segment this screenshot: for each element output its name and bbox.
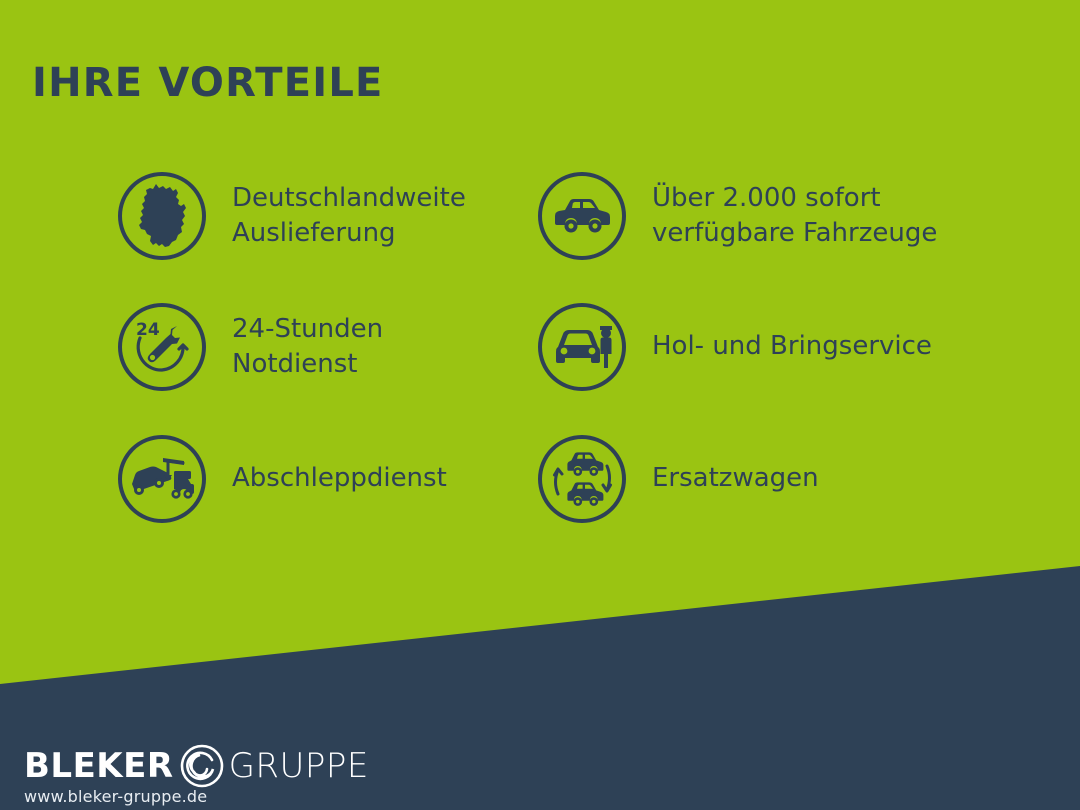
benefit-item-deutschlandweite-auslieferung[interactable]: Deutschlandweite Auslieferung xyxy=(118,172,466,260)
slide-canvas: IHRE VORTEILE Deutschlandweite Ausliefer… xyxy=(0,0,1080,810)
diagonal-footer-band xyxy=(0,0,1080,810)
benefit-label: Über 2.000 sofort verfügbare Fahrzeuge xyxy=(652,181,937,251)
benefit-item-sofort-verfuegbare-fahrzeuge[interactable]: Über 2.000 sofort verfügbare Fahrzeuge xyxy=(538,172,937,260)
logo-primary-text: BLEKER xyxy=(24,749,174,783)
benefit-label: Abschleppdienst xyxy=(232,461,447,496)
car-side-icon xyxy=(538,172,626,260)
germany-map-icon xyxy=(118,172,206,260)
car-driver-icon xyxy=(538,303,626,391)
benefit-label: Ersatzwagen xyxy=(652,461,819,496)
benefit-label: 24-Stunden Notdienst xyxy=(232,312,383,382)
spiral-circle-icon xyxy=(178,742,226,790)
benefit-item-ersatzwagen[interactable]: Ersatzwagen xyxy=(538,435,819,523)
benefit-item-24-stunden-notdienst[interactable]: 24 24-Stunden Notdienst xyxy=(118,303,383,391)
brand-logo[interactable]: BLEKER GRUPPE xyxy=(24,742,369,790)
tow-truck-icon xyxy=(118,435,206,523)
page-title: IHRE VORTEILE xyxy=(32,63,384,103)
benefit-item-abschleppdienst[interactable]: Abschleppdienst xyxy=(118,435,447,523)
car-swap-icon xyxy=(538,435,626,523)
website-url[interactable]: www.bleker-gruppe.de xyxy=(24,789,207,805)
benefit-item-hol-und-bringservice[interactable]: Hol- und Bringservice xyxy=(538,303,932,391)
wrench-24h-icon: 24 xyxy=(118,303,206,391)
benefit-label: Deutschlandweite Auslieferung xyxy=(232,181,466,251)
benefit-label: Hol- und Bringservice xyxy=(652,329,932,364)
logo-secondary-text: GRUPPE xyxy=(229,749,369,783)
